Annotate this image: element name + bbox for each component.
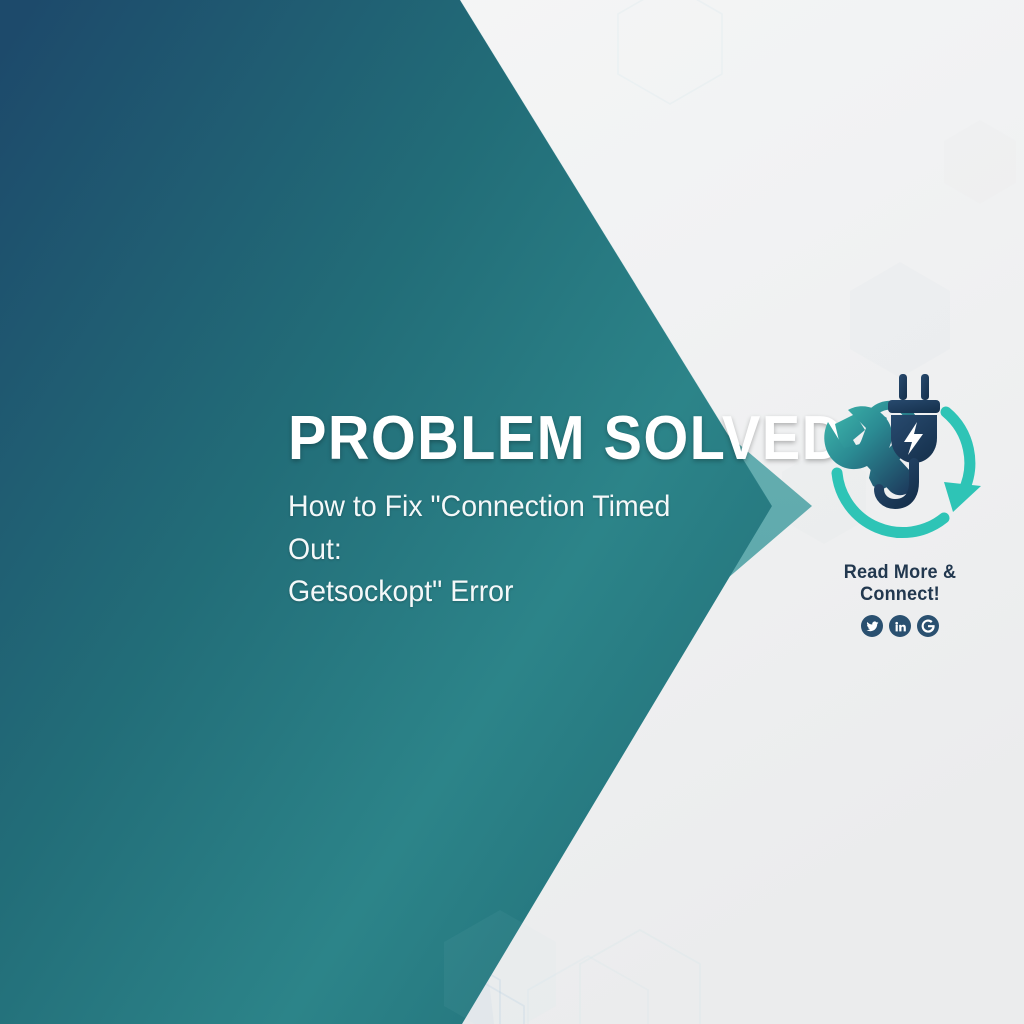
social-banner-card: PROBLEM SOLVED How to Fix "Connection Ti… [0, 0, 1024, 1024]
cta-label: Read More & Connect! [805, 562, 995, 606]
page-title: PROBLEM SOLVED [288, 408, 688, 470]
linkedin-icon [894, 620, 907, 633]
social-link-twitter[interactable] [861, 615, 883, 637]
plug-prong-right-icon [921, 374, 929, 400]
refresh-arrowhead-icon [944, 482, 981, 512]
twitter-icon [866, 620, 879, 633]
wrench-plug-refresh-icon [811, 370, 989, 540]
cta-panel: Read More & Connect! [800, 370, 1000, 637]
headline-block: PROBLEM SOLVED How to Fix "Connection Ti… [288, 408, 718, 614]
subtitle-line-2: Getsockopt" Error [288, 575, 514, 608]
page-subtitle: How to Fix "Connection Timed Out:Getsock… [288, 486, 697, 614]
social-link-google[interactable] [917, 615, 939, 637]
refresh-arc-icon [946, 412, 970, 492]
subtitle-line-1: How to Fix "Connection Timed Out: [288, 490, 670, 566]
google-icon [921, 619, 935, 633]
social-link-linkedin[interactable] [889, 615, 911, 637]
social-links [800, 615, 1000, 637]
plug-prong-left-icon [899, 374, 907, 400]
plug-collar-icon [888, 400, 940, 413]
